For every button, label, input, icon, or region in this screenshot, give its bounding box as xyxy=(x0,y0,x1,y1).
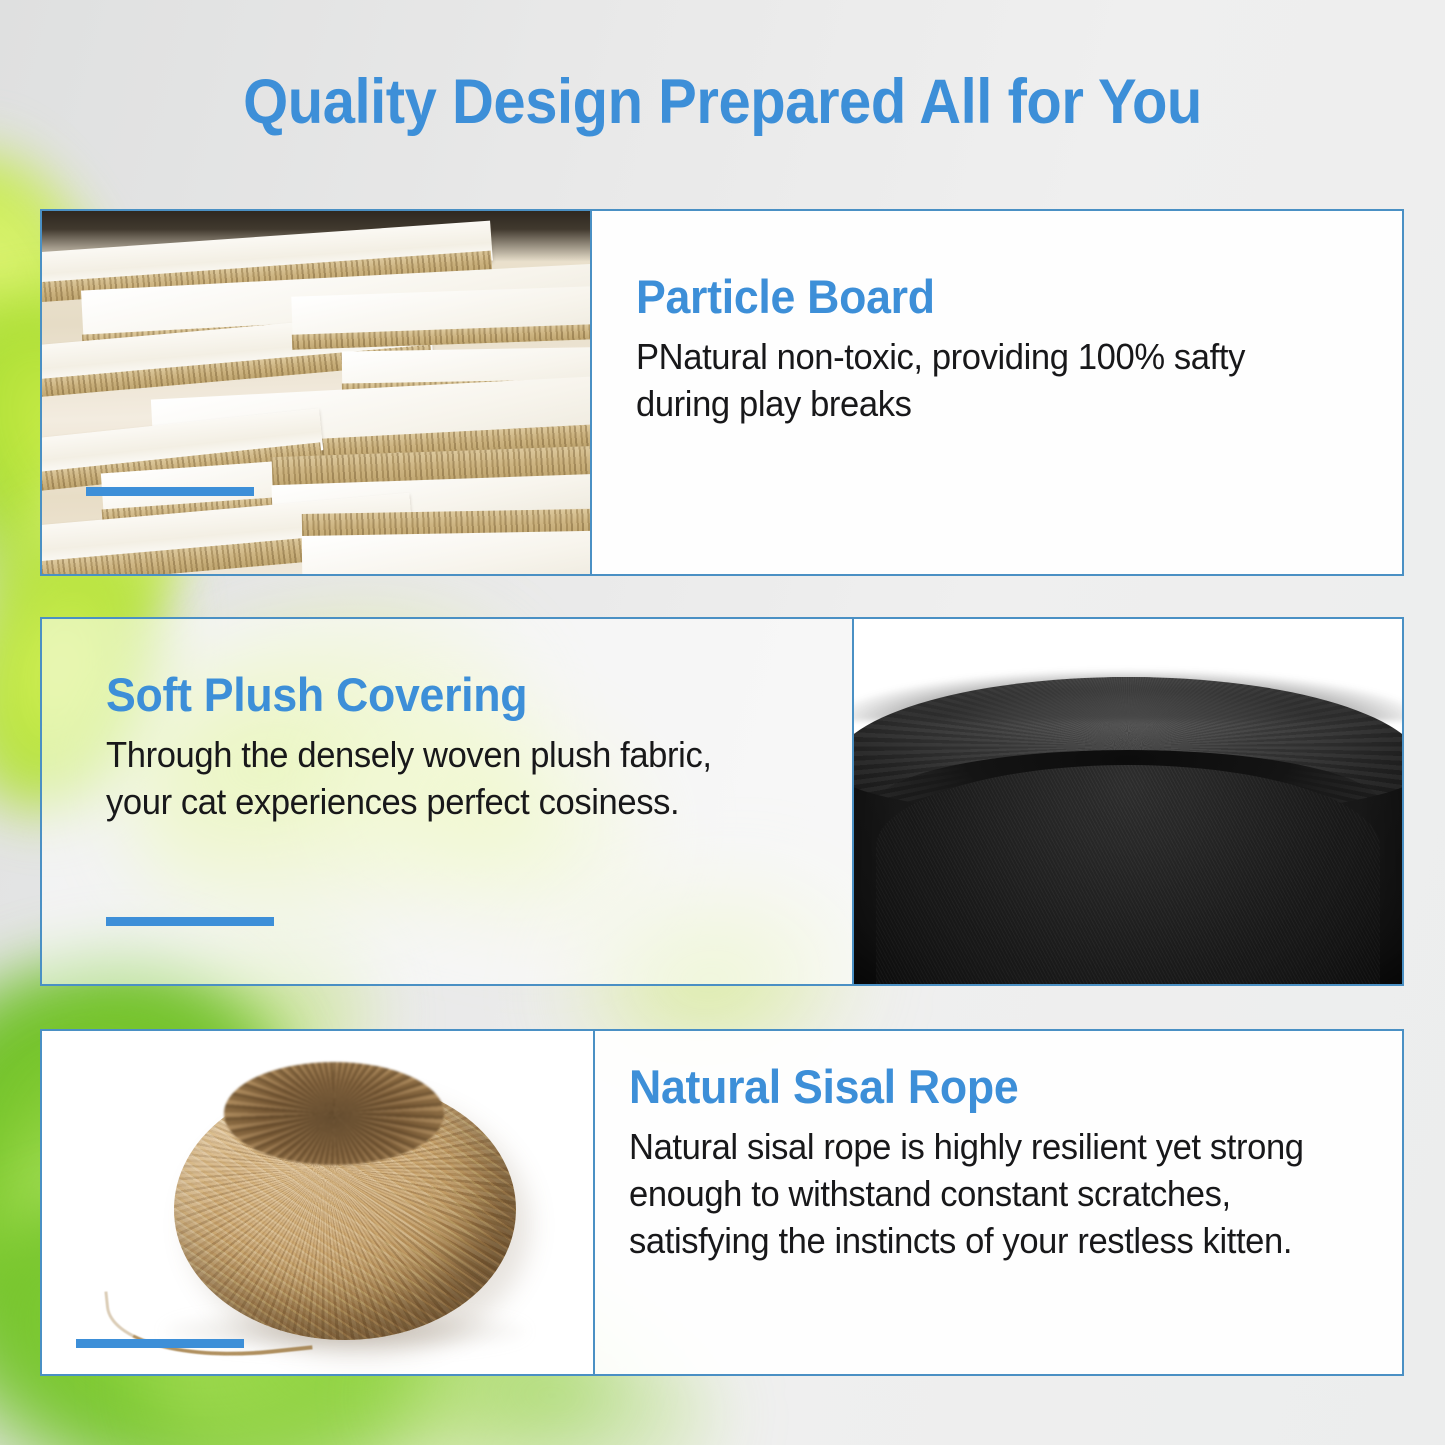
feature-title: Natural Sisal Rope xyxy=(629,1059,1325,1114)
feature-card-soft-plush-covering: Soft Plush Covering Through the densely … xyxy=(40,617,1404,986)
plush-bed-inner xyxy=(876,765,1380,984)
sisal-rope-photo xyxy=(42,1031,593,1374)
rope-ball-core xyxy=(224,1062,444,1165)
accent-underline-bar xyxy=(76,1339,244,1348)
infographic-page: Quality Design Prepared All for You xyxy=(0,0,1445,1445)
page-title: Quality Design Prepared All for You xyxy=(58,66,1387,138)
feature-body: PNatural non-toxic, providing 100% safty… xyxy=(636,334,1333,428)
accent-underline-bar xyxy=(86,487,254,496)
soft-plush-photo xyxy=(854,619,1402,984)
soft-plush-text: Soft Plush Covering Through the densely … xyxy=(42,619,854,984)
feature-card-natural-sisal-rope: Natural Sisal Rope Natural sisal rope is… xyxy=(40,1029,1404,1376)
board-face xyxy=(302,530,590,574)
feature-body: Natural sisal rope is highly resilient y… xyxy=(629,1124,1333,1264)
sisal-rope-text: Natural Sisal Rope Natural sisal rope is… xyxy=(593,1031,1402,1374)
accent-underline-bar xyxy=(106,917,274,926)
feature-title: Soft Plush Covering xyxy=(106,667,777,722)
feature-title: Particle Board xyxy=(636,269,1326,324)
feature-card-particle-board: Particle Board PNatural non-toxic, provi… xyxy=(40,209,1404,576)
particle-board-text: Particle Board PNatural non-toxic, provi… xyxy=(590,211,1402,574)
particle-board-photo xyxy=(42,211,590,574)
feature-body: Through the densely woven plush fabric, … xyxy=(106,732,784,826)
